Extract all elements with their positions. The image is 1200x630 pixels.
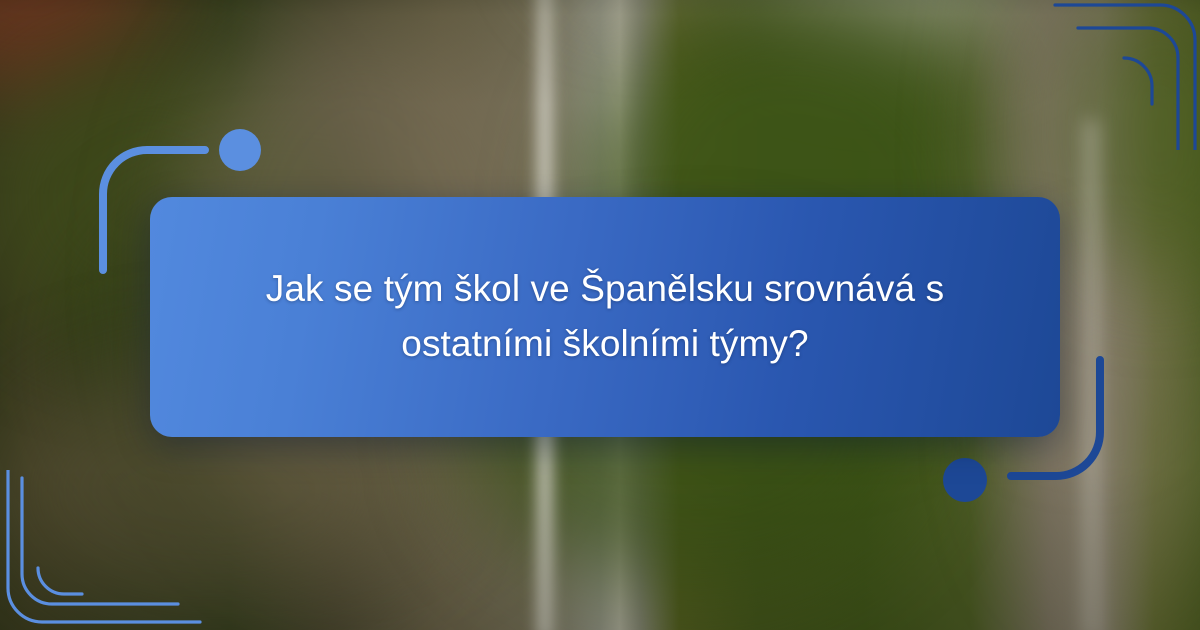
question-card: Jak se tým škol ve Španělsku srovnává s … [150, 197, 1060, 437]
social-card-canvas: Jak se tým škol ve Španělsku srovnává s … [0, 0, 1200, 630]
question-text: Jak se tým škol ve Španělsku srovnává s … [214, 262, 996, 372]
